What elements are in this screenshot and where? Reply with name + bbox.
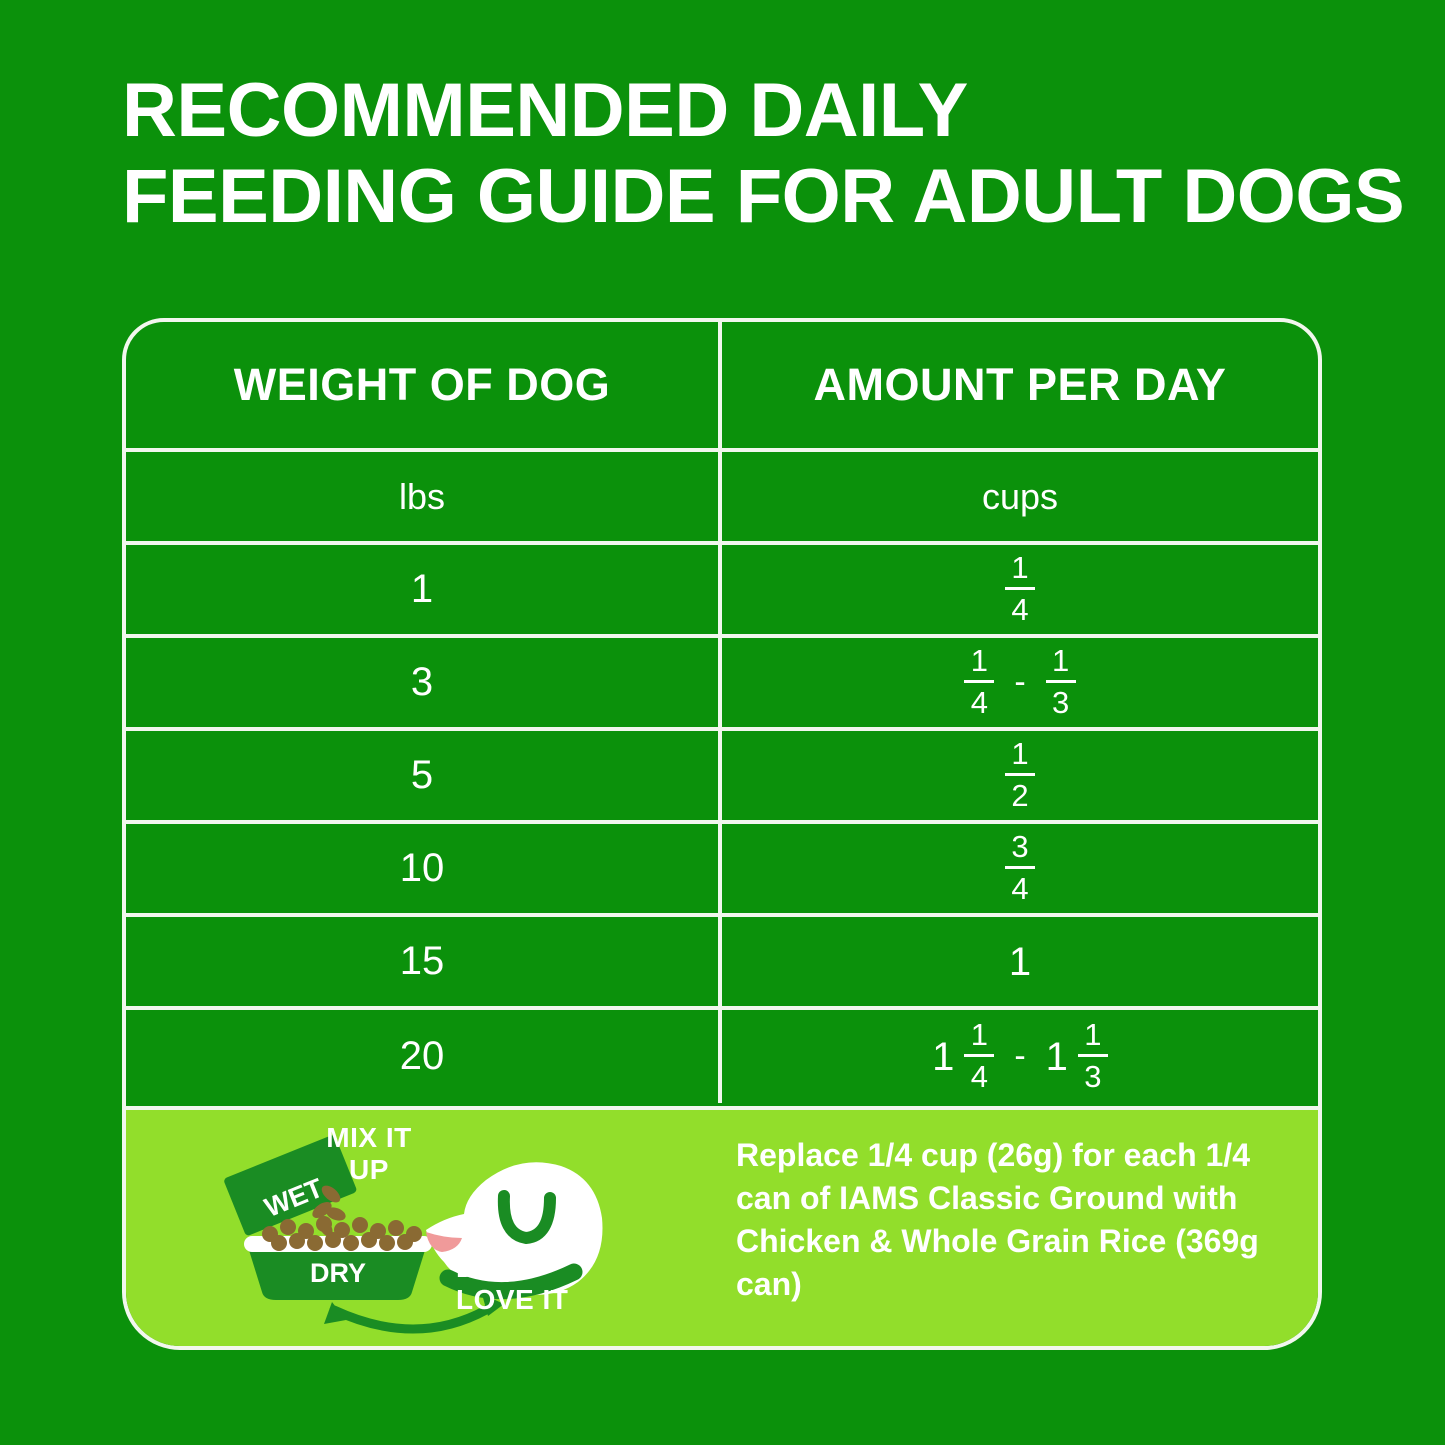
fraction-bar bbox=[1005, 866, 1035, 869]
fraction-denominator: 4 bbox=[971, 1058, 988, 1092]
fraction-denominator: 3 bbox=[1084, 1058, 1101, 1092]
units-amount: cups bbox=[722, 452, 1318, 541]
fraction-numerator: 1 bbox=[1011, 738, 1028, 772]
fraction-numerator: 1 bbox=[1084, 1019, 1101, 1053]
fraction-denominator: 4 bbox=[1011, 591, 1028, 625]
dogs-love-it-label: DOGS LOVE IT bbox=[456, 1252, 656, 1316]
page-title: RECOMMENDED DAILY FEEDING GUIDE FOR ADUL… bbox=[122, 68, 1412, 240]
amount-fraction-range: 1 4 - 1 3 bbox=[964, 646, 1075, 719]
fraction-bar bbox=[1005, 773, 1035, 776]
cell-weight: 1 bbox=[126, 545, 722, 634]
fraction-numerator: 1 bbox=[1011, 552, 1028, 586]
table-row: 10 3 4 bbox=[126, 824, 1318, 917]
cell-amount: 1 2 bbox=[722, 731, 1318, 820]
page-title-line-1: RECOMMENDED DAILY bbox=[122, 68, 1412, 154]
cell-weight: 10 bbox=[126, 824, 722, 913]
mix-it-up-illustration: DRY WET bbox=[126, 1110, 726, 1346]
table-row: 5 1 2 bbox=[126, 731, 1318, 824]
column-header-amount: AMOUNT PER DAY bbox=[722, 322, 1318, 448]
fraction-bar bbox=[964, 680, 994, 683]
table-row: 20 1 1 4 - 1 1 3 bbox=[126, 1010, 1318, 1103]
cell-amount: 1 bbox=[722, 917, 1318, 1006]
amount-whole: 1 bbox=[1009, 942, 1031, 982]
fraction-b: 1 3 bbox=[1046, 645, 1076, 718]
table-header-row: WEIGHT OF DOG AMOUNT PER DAY bbox=[126, 322, 1318, 452]
fraction-denominator: 2 bbox=[1011, 777, 1028, 811]
cell-weight: 20 bbox=[126, 1010, 722, 1103]
fraction-a: 3 4 bbox=[1005, 831, 1035, 904]
whole-number: 1 bbox=[1009, 942, 1031, 982]
fraction-bar bbox=[1005, 587, 1035, 590]
table-grid: WEIGHT OF DOG AMOUNT PER DAY lbs cups 1 … bbox=[126, 322, 1318, 1106]
cell-amount: 1 4 bbox=[722, 545, 1318, 634]
cell-amount: 3 4 bbox=[722, 824, 1318, 913]
amount-fraction: 1 2 bbox=[1005, 739, 1035, 812]
range-dash: - bbox=[1004, 663, 1035, 702]
amount-fraction: 3 4 bbox=[1005, 832, 1035, 905]
table-row: 1 1 4 bbox=[126, 545, 1318, 638]
mix-it-up-footer-panel: DRY WET bbox=[126, 1106, 1318, 1346]
amount-fraction: 1 4 bbox=[1005, 553, 1035, 626]
illustration-canvas: DRY WET bbox=[126, 1110, 726, 1346]
fraction-a: 1 4 bbox=[1005, 552, 1035, 625]
column-header-weight: WEIGHT OF DOG bbox=[126, 322, 722, 448]
cell-weight: 15 bbox=[126, 917, 722, 1006]
fraction-b: 1 3 bbox=[1078, 1019, 1108, 1092]
cell-weight: 5 bbox=[126, 731, 722, 820]
mix-it-up-label: MIX IT UP bbox=[284, 1122, 454, 1186]
fraction-numerator: 1 bbox=[971, 645, 988, 679]
fraction-denominator: 3 bbox=[1052, 684, 1069, 718]
feeding-guide-table: WEIGHT OF DOG AMOUNT PER DAY lbs cups 1 … bbox=[122, 318, 1322, 1350]
fraction-a: 1 4 bbox=[964, 645, 994, 718]
fraction-bar bbox=[1046, 680, 1076, 683]
fraction-bar bbox=[964, 1054, 994, 1057]
units-weight: lbs bbox=[126, 452, 722, 541]
page-title-line-2: FEEDING GUIDE FOR ADULT DOGS bbox=[122, 154, 1412, 240]
fraction-denominator: 4 bbox=[971, 684, 988, 718]
fraction-numerator: 1 bbox=[1052, 645, 1069, 679]
table-row: 15 1 bbox=[126, 917, 1318, 1010]
cell-amount: 1 1 4 - 1 1 3 bbox=[722, 1010, 1318, 1103]
fraction-numerator: 3 bbox=[1011, 831, 1028, 865]
cell-amount: 1 4 - 1 3 bbox=[722, 638, 1318, 727]
fraction-bar bbox=[1078, 1054, 1108, 1057]
dry-bowl-label: DRY bbox=[310, 1258, 366, 1288]
footer-note-container: Replace 1/4 cup (26g) for each 1/4 can o… bbox=[726, 1110, 1318, 1346]
table-units-row: lbs cups bbox=[126, 452, 1318, 545]
whole-number: 1 bbox=[1046, 1037, 1068, 1077]
fraction-denominator: 4 bbox=[1011, 870, 1028, 904]
table-row: 3 1 4 - 1 3 bbox=[126, 638, 1318, 731]
whole-number: 1 bbox=[932, 1037, 954, 1077]
fraction-numerator: 1 bbox=[971, 1019, 988, 1053]
cell-weight: 3 bbox=[126, 638, 722, 727]
fraction-a: 1 2 bbox=[1005, 738, 1035, 811]
amount-mixed-range: 1 1 4 - 1 1 3 bbox=[932, 1020, 1108, 1093]
fraction-a: 1 4 bbox=[964, 1019, 994, 1092]
range-dash: - bbox=[1004, 1037, 1035, 1076]
footer-note-text: Replace 1/4 cup (26g) for each 1/4 can o… bbox=[736, 1134, 1298, 1306]
